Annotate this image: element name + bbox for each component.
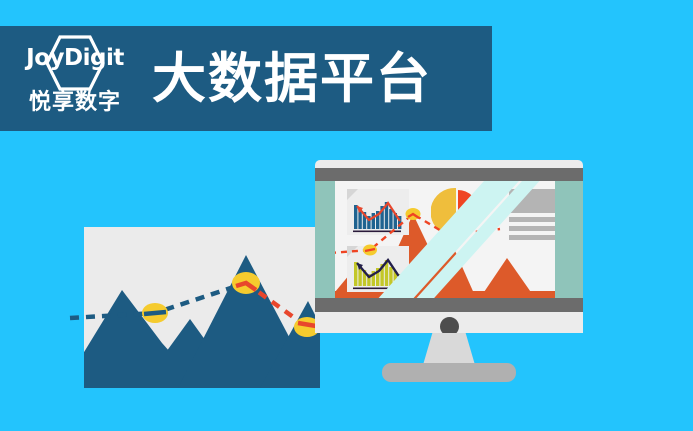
monitor-stand-neck [423,333,475,365]
monitor-bottom-bezel [315,298,583,312]
screen-right-strip [555,181,583,298]
banner-title: 大数据平台 [152,52,432,106]
header-banner: JoyDigit 悦享数字 大数据平台 [0,26,492,131]
poster-canvas: JoyDigit 悦享数字 大数据平台 [0,0,693,431]
screen-left-strip [315,181,335,298]
brand-subtitle: 悦享数字 [16,91,134,113]
left-trend-overlay [70,222,330,342]
screen-trend-overlay [335,181,555,298]
monitor-stand-base [382,363,516,382]
monitor-screen [315,181,583,298]
monitor-top-bezel [315,168,583,181]
brand-logo: JoyDigit 悦享数字 [16,33,134,125]
brand-wordmark: JoyDigit [16,47,134,70]
dashboard-content [335,181,555,298]
desktop-monitor [315,160,583,392]
